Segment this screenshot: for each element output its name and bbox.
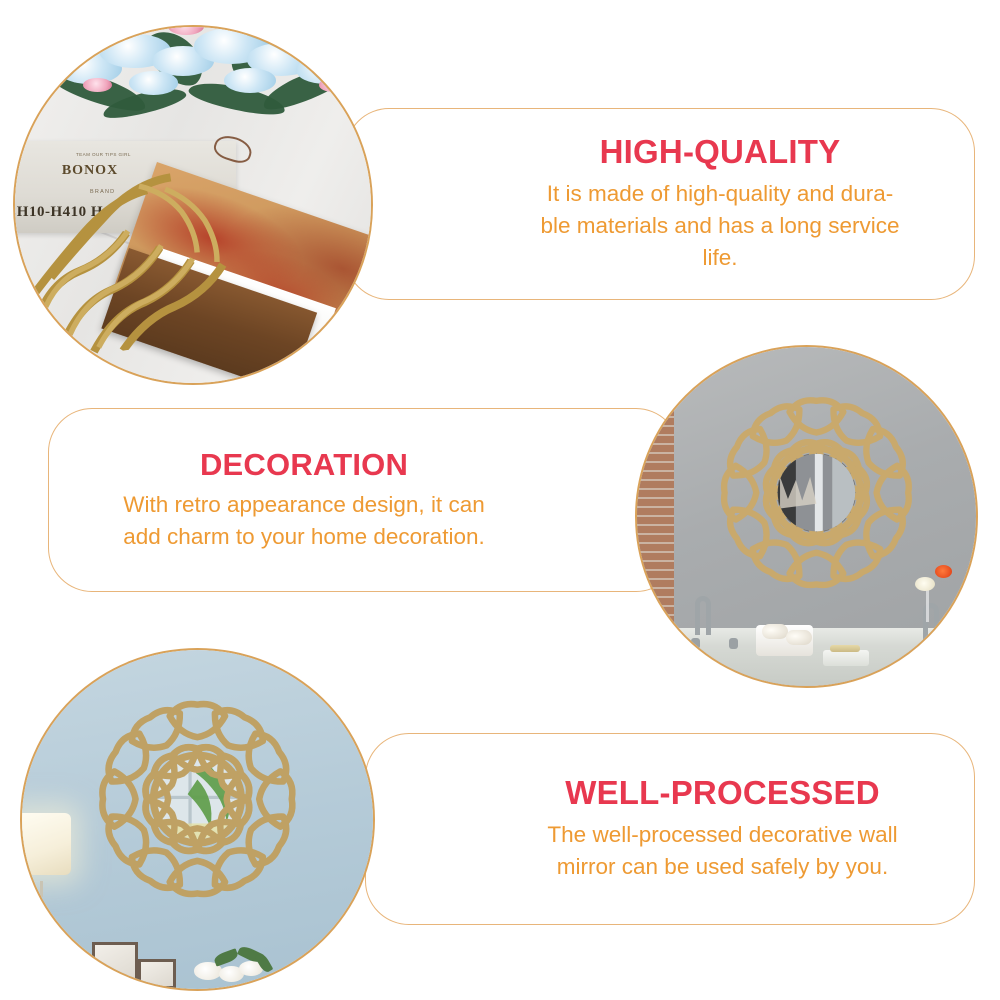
infographic-canvas: HIGH-QUALITY It is made of high-quality …	[0, 0, 1000, 1000]
faucet-left	[695, 596, 711, 635]
feature-card-well-processed: WELL-PROCESSED The well-processed decora…	[365, 733, 975, 925]
card-title: HIGH-QUALITY	[600, 134, 841, 170]
picture-frame	[92, 942, 138, 986]
product-closeup-scene: TEAM OUR TIPS GIRL BONOX BRAND CH10-H410…	[15, 27, 371, 383]
wall-lamp-shade	[20, 813, 71, 875]
card-body: With retro appearance design, it can add…	[97, 489, 510, 553]
card-body: The well-processed decorative wall mirro…	[521, 819, 923, 883]
card-title: WELL-PROCESSED	[565, 775, 879, 811]
card-body-line: The well-processed decorative wall	[547, 819, 897, 851]
soap-dish	[823, 650, 869, 666]
brick-wall	[637, 408, 674, 632]
card-body: It is made of high-quality and dura- ble…	[515, 178, 926, 274]
flower-bloom	[129, 71, 178, 94]
mirror-lattice-svg	[64, 677, 331, 921]
rolled-towel	[786, 630, 812, 645]
card-body-line: mirror can be used safely by you.	[547, 851, 897, 883]
faucet-base-left	[691, 638, 700, 649]
flower-bloom-pink	[319, 78, 348, 92]
feature-card-decoration: DECORATION With retro appearance design,…	[48, 408, 680, 592]
wall-lamp-pull	[40, 881, 43, 897]
card-body-line: add charm to your home decoration.	[123, 521, 484, 553]
card-body-line: It is made of high-quality and dura-	[541, 178, 900, 210]
flower-bloom	[224, 68, 276, 93]
flower-vase	[926, 586, 929, 622]
picture-frame	[138, 959, 177, 990]
sunburst-wall-mirror	[691, 374, 942, 611]
bedroom-scene	[22, 650, 373, 989]
rose-leaf	[213, 948, 239, 966]
gold-mirror-frame-closeup	[13, 152, 270, 365]
rolled-towel	[762, 624, 788, 639]
flower-bloom-pink	[266, 25, 299, 40]
bedroom-scene-photo	[20, 648, 375, 991]
faucet-handle-left	[729, 638, 738, 649]
card-body-line: With retro appearance design, it can	[123, 489, 484, 521]
bathroom-scene	[637, 347, 976, 686]
mirror-lattice-svg	[691, 374, 942, 611]
box-top-text: TEAM OUR TIPS GIRL	[76, 152, 131, 157]
flower-bloom-pink	[83, 78, 112, 92]
sunburst-wall-mirror	[64, 677, 331, 921]
orange-flower	[935, 565, 952, 578]
card-body-line: life.	[541, 242, 900, 274]
bathroom-scene-photo	[635, 345, 978, 688]
feature-card-high-quality: HIGH-QUALITY It is made of high-quality …	[345, 108, 975, 300]
white-roses	[190, 948, 274, 989]
card-body-line: ble materials and has a long service	[541, 210, 900, 242]
soap-bar	[830, 645, 860, 652]
frame-lattice-svg	[13, 152, 270, 365]
product-closeup-photo: TEAM OUR TIPS GIRL BONOX BRAND CH10-H410…	[13, 25, 373, 385]
card-title: DECORATION	[200, 448, 408, 482]
